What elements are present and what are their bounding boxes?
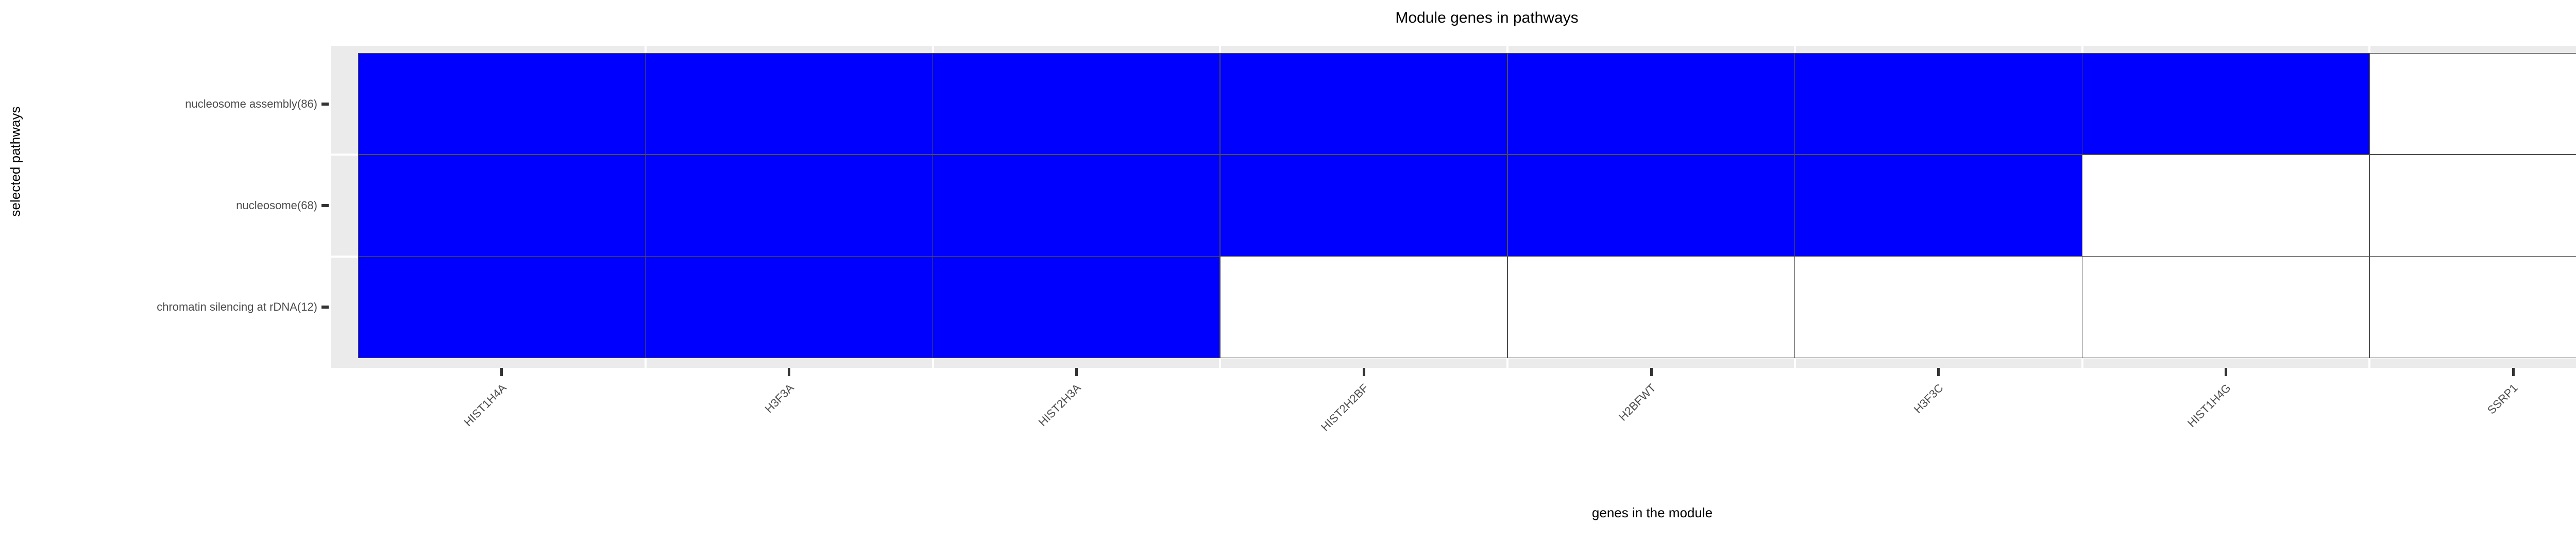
heatmap-cell	[1220, 53, 1507, 155]
x-axis-tick-mark	[500, 368, 503, 376]
x-axis-tick-label: HIST1H4A	[462, 381, 510, 429]
y-axis-tick-mark	[321, 306, 329, 309]
heatmap-cell	[2369, 53, 2576, 155]
x-axis-tick-mark	[1075, 368, 1078, 376]
heatmap-cell	[933, 53, 1220, 155]
heatmap-cell	[1220, 256, 1507, 358]
heatmap-cell	[2369, 155, 2576, 257]
plot-root: Module genes in pathways selected pathwa…	[0, 0, 2576, 541]
x-axis-tick-mark	[2225, 368, 2227, 376]
x-axis-tick-mark	[1937, 368, 1940, 376]
x-axis-title: genes in the module	[331, 505, 2576, 521]
page-title: Module genes in pathways	[0, 9, 2576, 27]
heatmap-cell	[2082, 256, 2369, 358]
heatmap-cell	[2082, 53, 2369, 155]
heatmap-cell	[1507, 53, 1795, 155]
y-axis-tick-label-wrapper: nucleosome(68)	[8, 206, 317, 219]
heatmap-cell	[645, 256, 933, 358]
heatmap-cell	[358, 53, 646, 155]
heatmap-cell	[2082, 155, 2369, 257]
y-axis-tick-label: nucleosome assembly(86)	[8, 97, 317, 111]
heatmap-cell	[645, 53, 933, 155]
x-axis-tick-label: SSRP1	[2485, 381, 2520, 417]
heatmap-cell	[933, 256, 1220, 358]
heatmap-cell	[1794, 256, 2082, 358]
y-axis-tick-label: chromatin silencing at rDNA(12)	[8, 300, 317, 314]
heatmap-cell	[1794, 53, 2082, 155]
heatmap-cell	[2369, 256, 2576, 358]
heatmap-cell	[1220, 155, 1507, 257]
x-axis-tick-label: H3F3C	[1911, 381, 1946, 416]
heatmap-cell	[358, 155, 646, 257]
x-axis-tick-label: H2BFWT	[1616, 381, 1658, 424]
x-axis-tick-mark	[788, 368, 790, 376]
heatmap-cell	[645, 155, 933, 257]
y-axis-tick-label-wrapper: nucleosome assembly(86)	[8, 104, 317, 117]
heatmap-cell	[1507, 155, 1795, 257]
heatmap-cell	[358, 256, 646, 358]
y-axis-tick-label: nucleosome(68)	[8, 199, 317, 212]
x-axis-tick-mark	[1363, 368, 1365, 376]
heatmap-cell	[1507, 256, 1795, 358]
x-axis-tick-mark	[2512, 368, 2515, 376]
y-axis-tick-mark	[321, 103, 329, 106]
heatmap-panel	[331, 46, 2576, 368]
x-axis-tick-label: HIST2H3A	[1036, 381, 1084, 429]
heatmap-cell	[933, 155, 1220, 257]
x-axis-tick-label: HIST1H4G	[2184, 381, 2233, 430]
x-axis-tick-label: H3F3A	[762, 381, 796, 416]
heatmap-cell	[1794, 155, 2082, 257]
x-axis-tick-label: HIST2H2BF	[1318, 381, 1371, 434]
y-axis-tick-mark	[321, 204, 329, 207]
y-axis-tick-label-wrapper: chromatin silencing at rDNA(12)	[8, 307, 317, 320]
x-axis-tick-mark	[1650, 368, 1653, 376]
heatmap-tile-grid	[358, 53, 2576, 358]
